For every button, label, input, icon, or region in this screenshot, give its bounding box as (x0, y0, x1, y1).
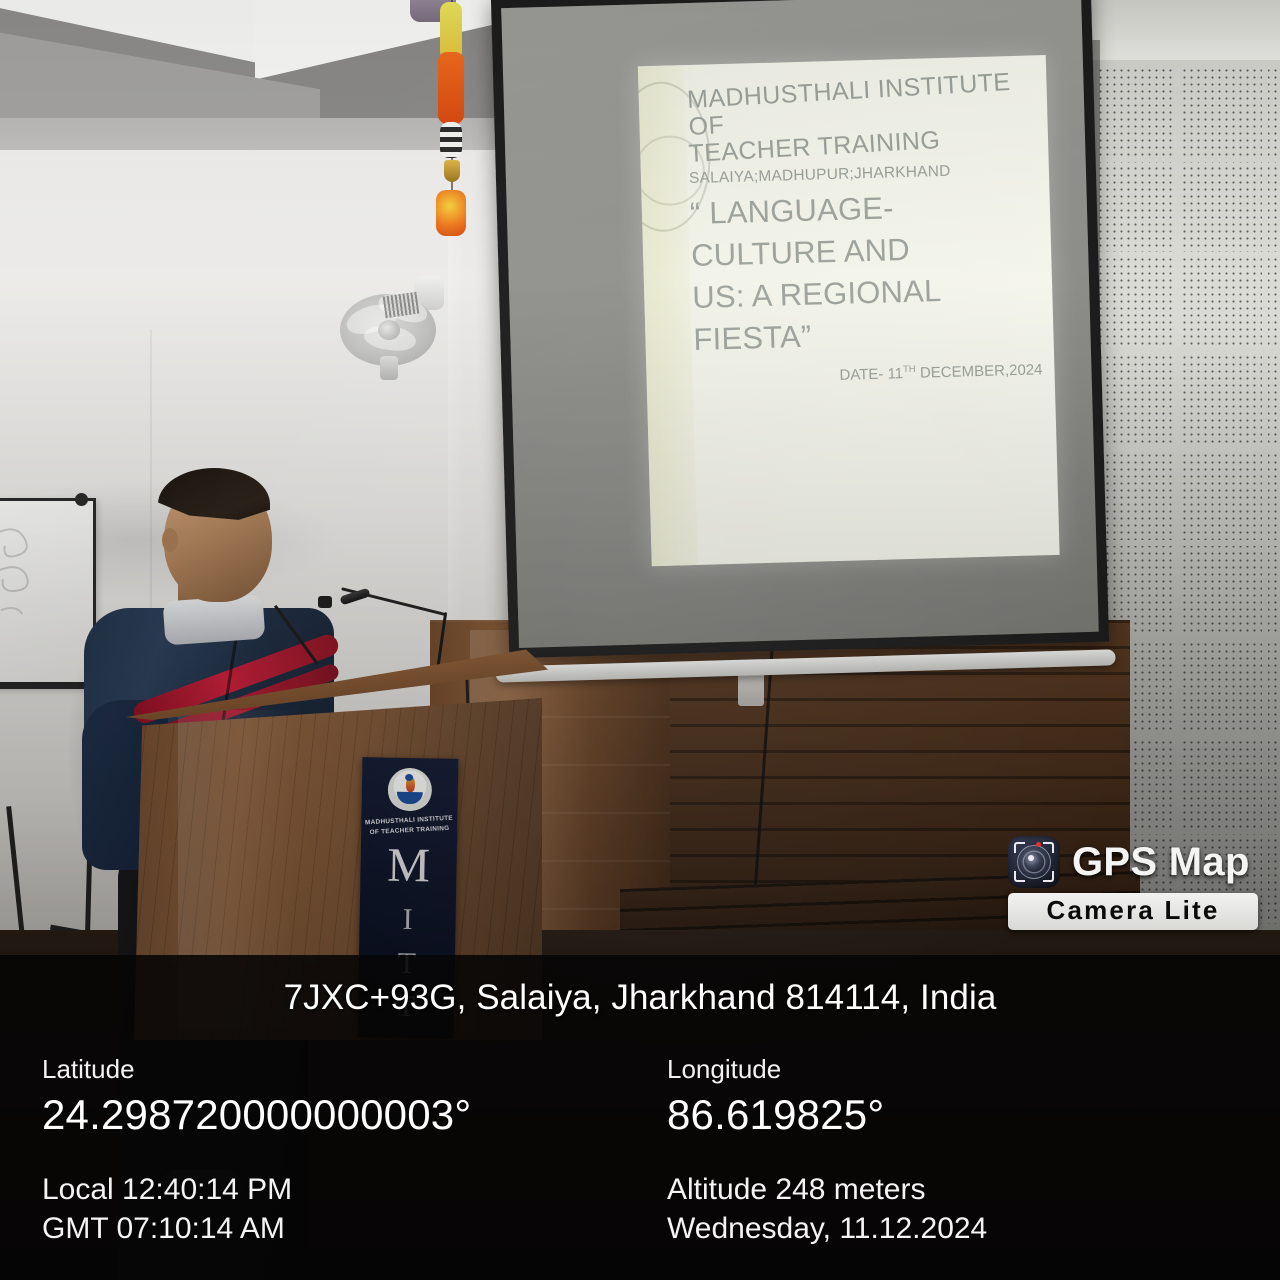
slide-title-line-3: US: A REGIONAL (692, 272, 1045, 314)
slide-date-prefix: DATE- 11 (839, 365, 903, 384)
slide-date-ordinal: TH (903, 363, 916, 374)
slide-title-line-2: CULTURE AND (691, 230, 1044, 272)
time-block: Local 12:40:14 PM GMT 07:10:14 AM (42, 1170, 667, 1249)
slide-date-suffix: DECEMBER,2024 (916, 361, 1043, 382)
projector-screen: MADHUSTHALI INSTITUTE OF TEACHER TRAININ… (491, 0, 1109, 658)
slide-title-line-1: “ LANGUAGE- (690, 188, 1043, 230)
gps-map-camera-watermark: GPS Map Camera Lite (1008, 836, 1258, 948)
right-ceiling-edge (1090, 0, 1280, 62)
longitude-value: 86.619825° (667, 1090, 1280, 1140)
gps-address: 7JXC+93G, Salaiya, Jharkhand 814114, Ind… (0, 955, 1280, 1019)
slide-date: DATE- 11TH DECEMBER,2024 (694, 360, 1046, 388)
banner-institute-name: MADHUSTHALI INSTITUTE OF TEACHER TRAININ… (364, 814, 455, 838)
gmt-time: GMT 07:10:14 AM (42, 1209, 667, 1249)
shirt-collar (163, 595, 266, 646)
watermark-title: GPS Map (1072, 842, 1250, 882)
altitude-date-block: Altitude 248 meters Wednesday, 11.12.202… (667, 1170, 1280, 1249)
marigold-garland-decoration (432, 0, 476, 244)
microphone-mount (318, 596, 332, 608)
latitude-value: 24.298720000000003° (42, 1090, 667, 1140)
whiteboard-scribble-icon (0, 515, 71, 645)
watermark-subtitle: Camera Lite (1008, 893, 1258, 930)
date: Wednesday, 11.12.2024 (667, 1209, 1280, 1249)
institute-emblem-icon (388, 768, 433, 813)
gps-camera-photo: MADHUSTHALI INSTITUTE OF TEACHER TRAININ… (0, 0, 1280, 1280)
gps-info-overlay: 7JXC+93G, Salaiya, Jharkhand 814114, Ind… (0, 955, 1280, 1280)
longitude-block: Longitude 86.619825° (667, 1053, 1280, 1140)
latitude-block: Latitude 24.298720000000003° (42, 1053, 667, 1140)
latitude-label: Latitude (42, 1053, 667, 1086)
banner-monogram: M (360, 841, 457, 891)
slide-title-line-4: FIESTA” (693, 314, 1046, 356)
local-time: Local 12:40:14 PM (42, 1170, 667, 1210)
gps-map-camera-app-icon (1008, 836, 1060, 888)
presentation-slide: MADHUSTHALI INSTITUTE OF TEACHER TRAININ… (638, 55, 1060, 566)
altitude: Altitude 248 meters (667, 1170, 1280, 1210)
longitude-label: Longitude (667, 1053, 1280, 1086)
screen-frame: MADHUSTHALI INSTITUTE OF TEACHER TRAININ… (491, 0, 1109, 658)
